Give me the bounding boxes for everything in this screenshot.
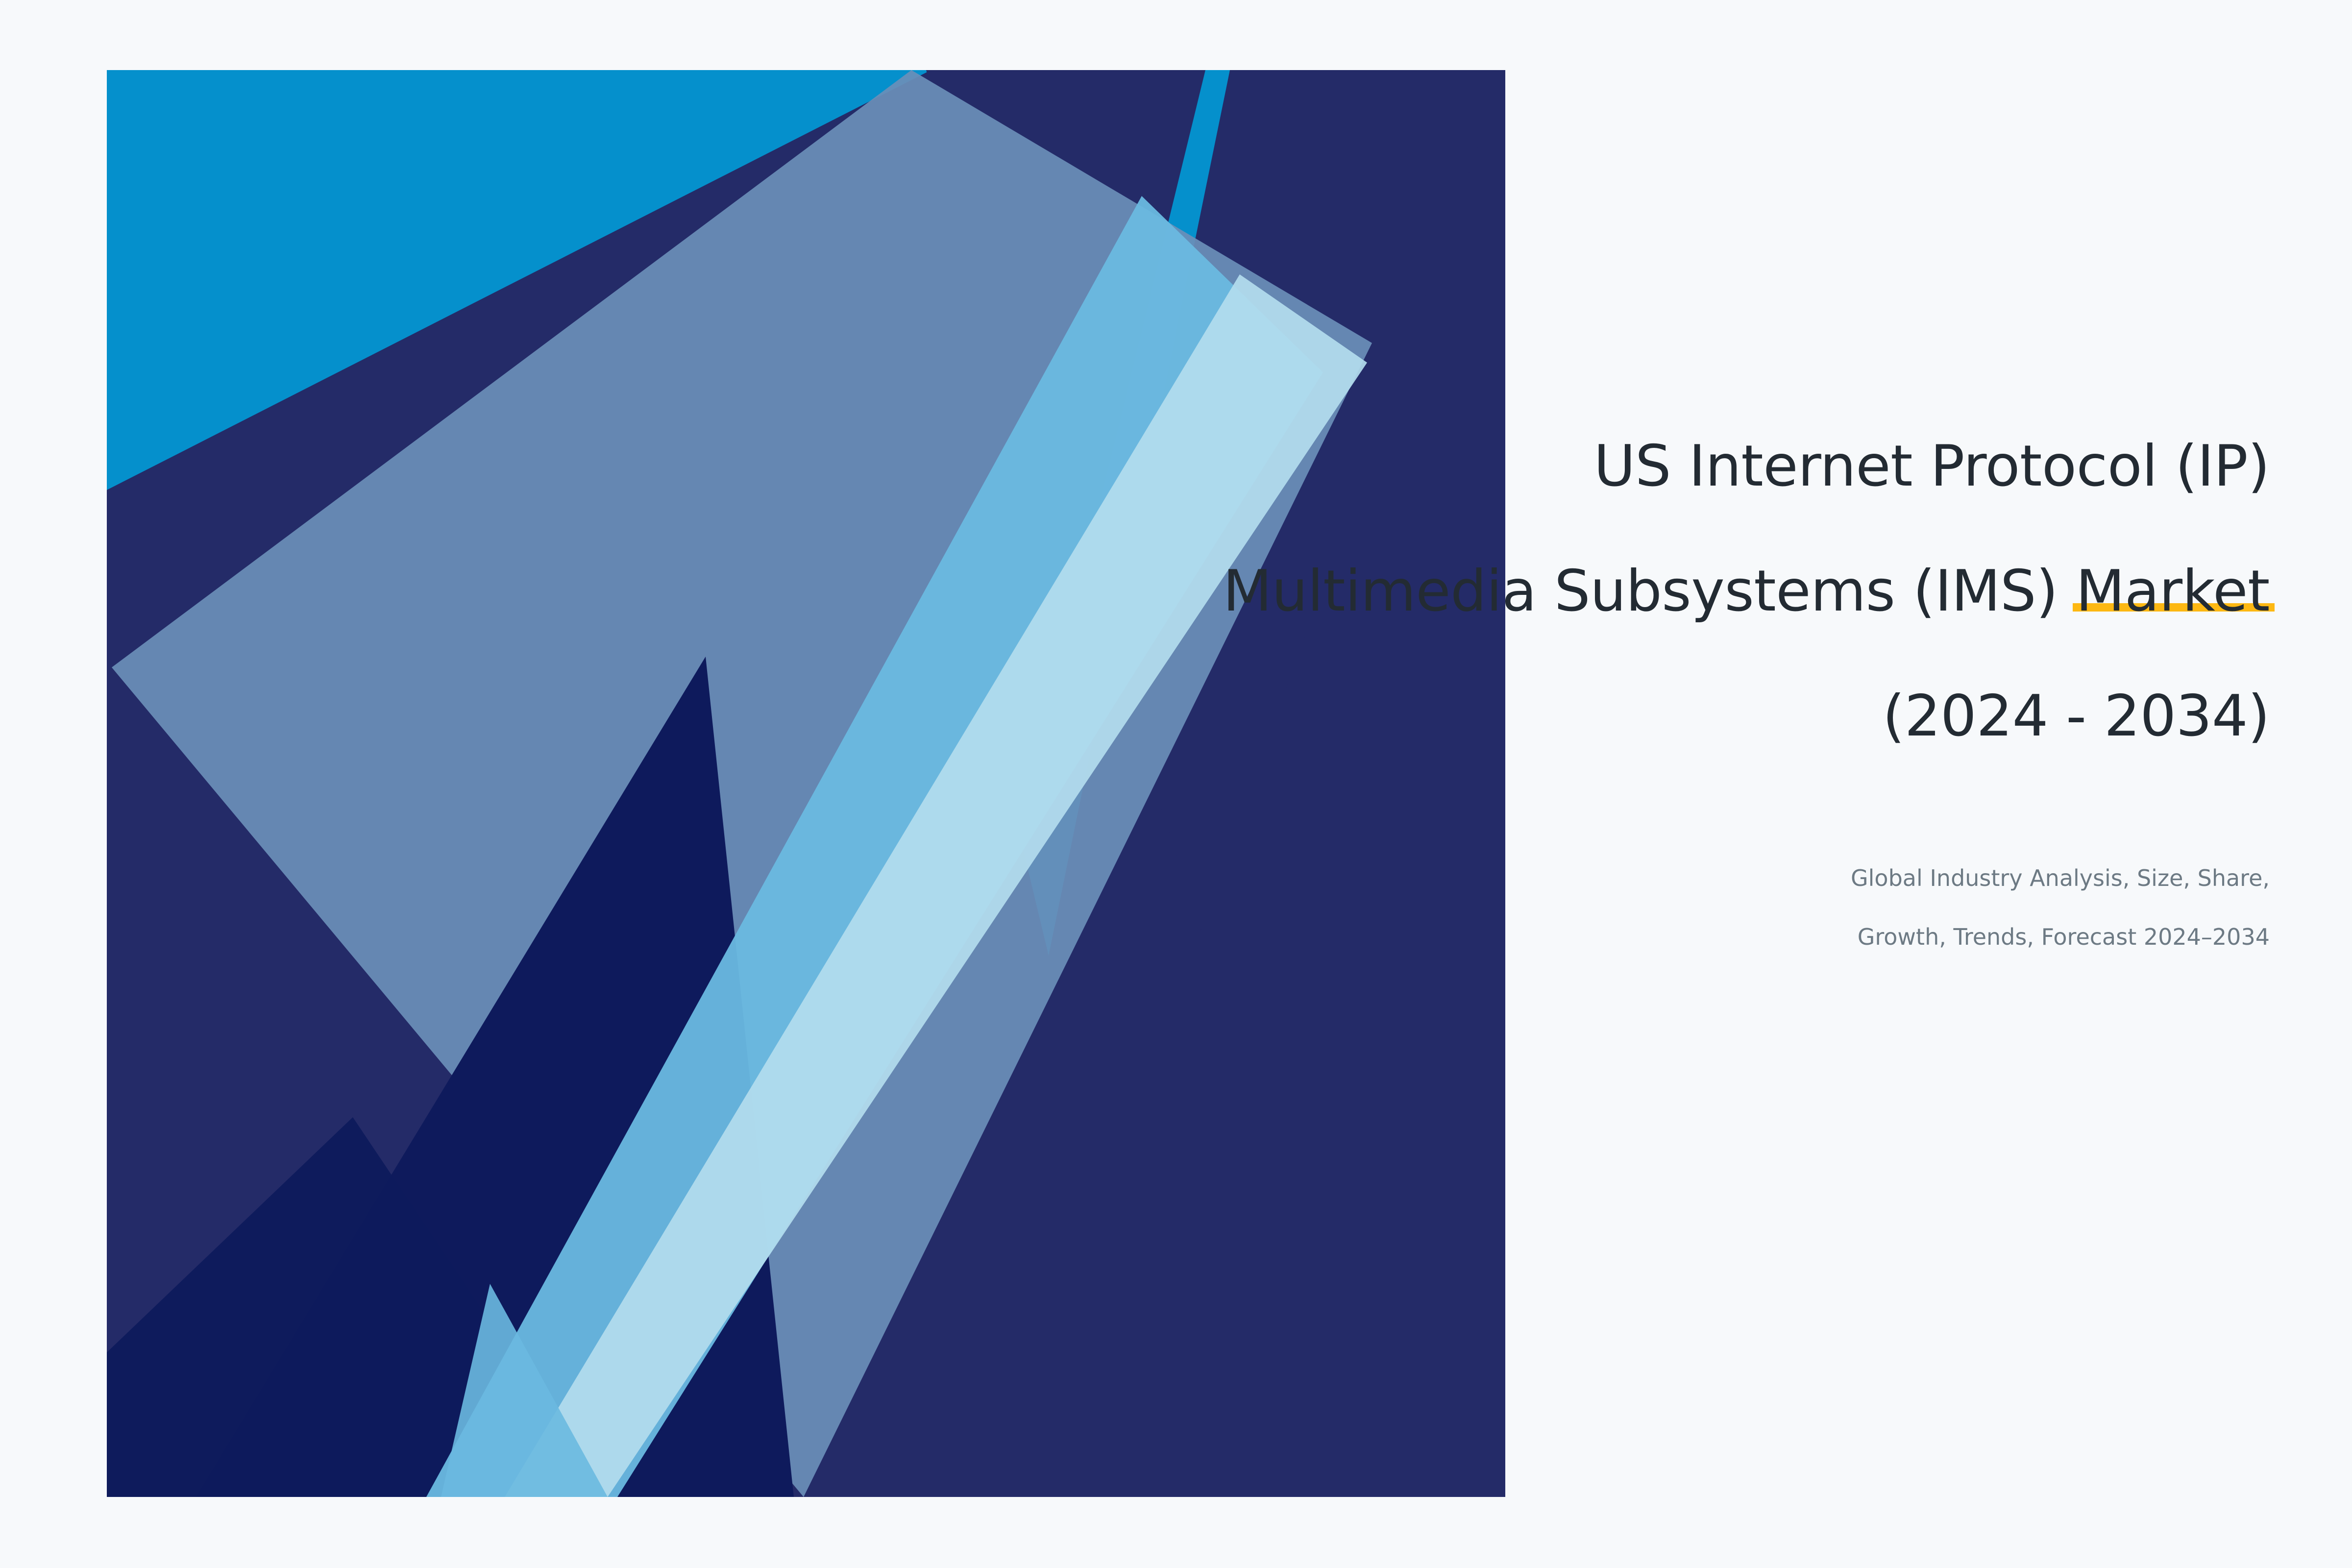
title-line-1: US Internet Protocol (IP) (947, 435, 2270, 498)
title-line-3: (2024 - 2034) (947, 685, 2270, 748)
title-line-2: Multimedia Subsystems (IMS) Market (947, 560, 2270, 623)
title-block: US Internet Protocol (IP) Multimedia Sub… (947, 372, 2270, 952)
subtitle-line-2: Growth, Trends, Forecast 2024–2034 (1858, 924, 2270, 950)
title-line-2-text: Multimedia Subsystems (IMS) (1223, 558, 2076, 624)
page-title: US Internet Protocol (IP) Multimedia Sub… (947, 372, 2270, 810)
subtitle-line-1: Global Industry Analysis, Size, Share, (1851, 865, 2270, 891)
report-cover-page: US Internet Protocol (IP) Multimedia Sub… (0, 0, 2352, 1568)
title-highlight-wrap: Market (2076, 560, 2270, 623)
title-highlight-text: Market (2076, 558, 2270, 624)
page-subtitle: Global Industry Analysis, Size, Share, G… (947, 834, 2270, 952)
